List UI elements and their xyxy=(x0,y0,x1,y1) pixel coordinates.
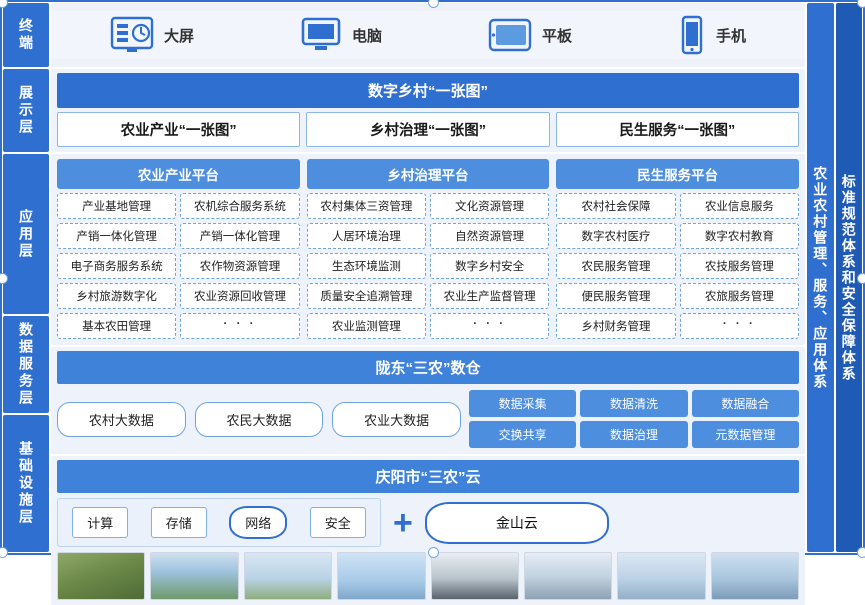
app-cell[interactable]: 农业监测管理 xyxy=(307,313,426,339)
terminal-section: 大屏 电脑 平板 xyxy=(51,3,805,67)
resource-box: 计算 存储 网络 安全 xyxy=(57,498,381,547)
infrastructure-photo-row xyxy=(57,552,799,600)
tablet-icon xyxy=(488,18,532,52)
resize-handle-bottom-center[interactable] xyxy=(428,547,439,558)
app-cell[interactable]: 产业基地管理 xyxy=(57,193,176,219)
display-cell-livelihood[interactable]: 民生服务“一张图” xyxy=(556,112,799,147)
display-cells-row: 农业产业“一张图” 乡村治理“一张图” 民生服务“一张图” xyxy=(51,112,805,152)
application-columns: 农业产业平台 产业基地管理 农机综合服务系统 产销一体化管理 产销一体化管理 电… xyxy=(51,154,805,345)
app-cell[interactable]: 自然资源管理 xyxy=(430,223,549,249)
data-pill-agriculture[interactable]: 农业大数据 xyxy=(332,402,461,437)
kingsoft-cloud-badge[interactable]: 金山云 xyxy=(425,502,609,544)
farm-machinery-photo xyxy=(57,552,145,600)
app-cell[interactable]: 人居环境治理 xyxy=(307,223,426,249)
app-cell[interactable]: 便民服务管理 xyxy=(556,283,675,309)
app-cell-more[interactable]: · · · xyxy=(680,313,799,339)
application-column-governance: 乡村治理平台 农村集体三资管理 文化资源管理 人居环境治理 自然资源管理 生态环… xyxy=(307,159,550,339)
app-cell[interactable]: 农业资源回收管理 xyxy=(180,283,299,309)
app-cell-more[interactable]: · · · xyxy=(180,313,299,339)
resize-handle-top-right[interactable] xyxy=(857,0,865,8)
data-pills: 农村大数据 农民大数据 农业大数据 xyxy=(57,402,461,437)
display-section: 数字乡村“一张图” 农业产业“一张图” 乡村治理“一张图” 民生服务“一张图” xyxy=(51,69,805,152)
terminal-item-tablet[interactable]: 平板 xyxy=(488,18,572,52)
resize-handle-middle-right[interactable] xyxy=(857,273,865,284)
data-pill-rural[interactable]: 农村大数据 xyxy=(57,402,186,437)
data-warehouse-title: 陇东“三农”数仓 xyxy=(57,351,799,384)
app-cell[interactable]: 农机综合服务系统 xyxy=(180,193,299,219)
side-band-column: 农业农村管理、服务、应用体系 标准规范体系和安全保障体系 xyxy=(806,2,863,553)
app-cell[interactable]: 农村社会保障 xyxy=(556,193,675,219)
app-cell[interactable]: 农业信息服务 xyxy=(680,193,799,219)
control-room-photo xyxy=(524,552,612,600)
terminal-item-big-screen[interactable]: 大屏 xyxy=(110,16,194,54)
app-cell[interactable]: 产销一体化管理 xyxy=(180,223,299,249)
application-grid-livelihood: 农村社会保障 农业信息服务 数字农村医疗 数字农村教育 农民服务管理 农技服务管… xyxy=(556,193,799,339)
chip-data-fusion[interactable]: 数据融合 xyxy=(692,390,799,417)
chip-data-collection[interactable]: 数据采集 xyxy=(469,390,576,417)
display-cell-governance[interactable]: 乡村治理“一张图” xyxy=(306,112,549,147)
infrastructure-wrap: 庆阳市“三农”云 计算 存储 网络 安全 + 金山云 xyxy=(51,456,805,605)
application-grid-industry: 产业基地管理 农机综合服务系统 产销一体化管理 产销一体化管理 电子商务服务系统… xyxy=(57,193,300,339)
app-cell[interactable]: 农民服务管理 xyxy=(556,253,675,279)
app-cell[interactable]: 生态环境监测 xyxy=(307,253,426,279)
app-cell[interactable]: 质量安全追溯管理 xyxy=(307,283,426,309)
app-cell[interactable]: 基本农田管理 xyxy=(57,313,176,339)
data-service-row: 农村大数据 农民大数据 农业大数据 数据采集 数据清洗 数据融合 交换共享 数据… xyxy=(57,390,799,448)
agriculture-drone-photo xyxy=(337,552,425,600)
resize-handle-bottom-right[interactable] xyxy=(857,547,865,558)
app-cell[interactable]: 电子商务服务系统 xyxy=(57,253,176,279)
terminal-item-computer[interactable]: 电脑 xyxy=(300,16,382,54)
terminal-label-mobile: 手机 xyxy=(716,25,746,46)
layer-label-terminal: 终端 xyxy=(3,3,49,67)
layer-label-infrastructure: 基础设施层 xyxy=(3,415,49,552)
app-cell[interactable]: 农业生产监督管理 xyxy=(430,283,549,309)
application-title-livelihood: 民生服务平台 xyxy=(556,159,799,189)
greenhouse-exterior-photo xyxy=(244,552,332,600)
resize-handle-top-center[interactable] xyxy=(428,0,439,8)
resource-security[interactable]: 安全 xyxy=(310,507,366,538)
infrastructure-resources-row: 计算 存储 网络 安全 + 金山云 xyxy=(57,498,799,547)
display-cell-industry[interactable]: 农业产业“一张图” xyxy=(57,112,300,147)
chip-data-governance[interactable]: 数据治理 xyxy=(580,421,687,448)
layer-label-application: 应用层 xyxy=(3,154,49,314)
indoor-facility-photo xyxy=(617,552,705,600)
app-cell-more[interactable]: · · · xyxy=(430,313,549,339)
app-cell[interactable]: 农旅服务管理 xyxy=(680,283,799,309)
app-cell[interactable]: 文化资源管理 xyxy=(430,193,549,219)
terminal-row: 大屏 电脑 平板 xyxy=(51,11,805,59)
app-cell[interactable]: 数字乡村安全 xyxy=(430,253,549,279)
layer-label-display: 展示层 xyxy=(3,69,49,152)
app-cell[interactable]: 农村集体三资管理 xyxy=(307,193,426,219)
mobile-phone-icon xyxy=(678,15,706,55)
application-section: 农业产业平台 产业基地管理 农机综合服务系统 产销一体化管理 产销一体化管理 电… xyxy=(51,154,805,345)
app-cell[interactable]: 农技服务管理 xyxy=(680,253,799,279)
diagram-content: 大屏 电脑 平板 xyxy=(50,2,806,553)
resource-storage[interactable]: 存储 xyxy=(151,507,207,538)
cloud-platform-title: 庆阳市“三农”云 xyxy=(57,460,799,493)
application-title-industry: 农业产业平台 xyxy=(57,159,300,189)
chip-metadata-management[interactable]: 元数据管理 xyxy=(692,421,799,448)
terminal-item-mobile[interactable]: 手机 xyxy=(678,15,746,55)
terminal-label-computer: 电脑 xyxy=(352,25,382,46)
diagram-layout: 终端 展示层 应用层 数据服务层 基础设施层 大屏 xyxy=(2,2,863,553)
diagram-frame: 终端 展示层 应用层 数据服务层 基础设施层 大屏 xyxy=(0,0,865,555)
data-capability-chips: 数据采集 数据清洗 数据融合 交换共享 数据治理 元数据管理 xyxy=(469,390,799,448)
resize-handle-middle-left[interactable] xyxy=(0,273,8,284)
app-cell[interactable]: 乡村旅游数字化 xyxy=(57,283,176,309)
greenhouse-interior-photo xyxy=(150,552,238,600)
application-grid-governance: 农村集体三资管理 文化资源管理 人居环境治理 自然资源管理 生态环境监测 数字乡… xyxy=(307,193,550,339)
resize-handle-bottom-left[interactable] xyxy=(0,547,8,558)
side-band-management: 农业农村管理、服务、应用体系 xyxy=(807,3,834,552)
infrastructure-section: 庆阳市“三农”云 计算 存储 网络 安全 + 金山云 xyxy=(51,456,805,605)
terminal-label-tablet: 平板 xyxy=(542,25,572,46)
app-cell[interactable]: 数字农村医疗 xyxy=(556,223,675,249)
chip-data-exchange[interactable]: 交换共享 xyxy=(469,421,576,448)
data-service-section: 陇东“三农”数仓 农村大数据 农民大数据 农业大数据 数据采集 数据清洗 数据融… xyxy=(51,347,805,454)
data-service-wrap: 陇东“三农”数仓 农村大数据 农民大数据 农业大数据 数据采集 数据清洗 数据融… xyxy=(51,347,805,454)
terminal-label-big-screen: 大屏 xyxy=(164,25,194,46)
chip-data-cleaning[interactable]: 数据清洗 xyxy=(580,390,687,417)
layer-label-column: 终端 展示层 应用层 数据服务层 基础设施层 xyxy=(2,2,50,553)
plus-icon: + xyxy=(389,506,417,540)
app-cell[interactable]: 乡村财务管理 xyxy=(556,313,675,339)
app-cell[interactable]: 数字农村教育 xyxy=(680,223,799,249)
app-cell[interactable]: 产销一体化管理 xyxy=(57,223,176,249)
display-banner: 数字乡村“一张图” xyxy=(57,73,799,108)
resource-compute[interactable]: 计算 xyxy=(72,507,128,538)
layer-label-data-service: 数据服务层 xyxy=(3,316,49,413)
sensor-device-photo xyxy=(431,552,519,600)
communication-tower-photo xyxy=(711,552,799,600)
big-screen-icon xyxy=(110,16,154,54)
application-title-governance: 乡村治理平台 xyxy=(307,159,550,189)
desktop-computer-icon xyxy=(300,16,342,54)
app-cell[interactable]: 农作物资源管理 xyxy=(180,253,299,279)
application-column-industry: 农业产业平台 产业基地管理 农机综合服务系统 产销一体化管理 产销一体化管理 电… xyxy=(57,159,300,339)
data-pill-farmer[interactable]: 农民大数据 xyxy=(195,402,324,437)
resource-network[interactable]: 网络 xyxy=(229,506,287,539)
application-column-livelihood: 民生服务平台 农村社会保障 农业信息服务 数字农村医疗 数字农村教育 农民服务管… xyxy=(556,159,799,339)
